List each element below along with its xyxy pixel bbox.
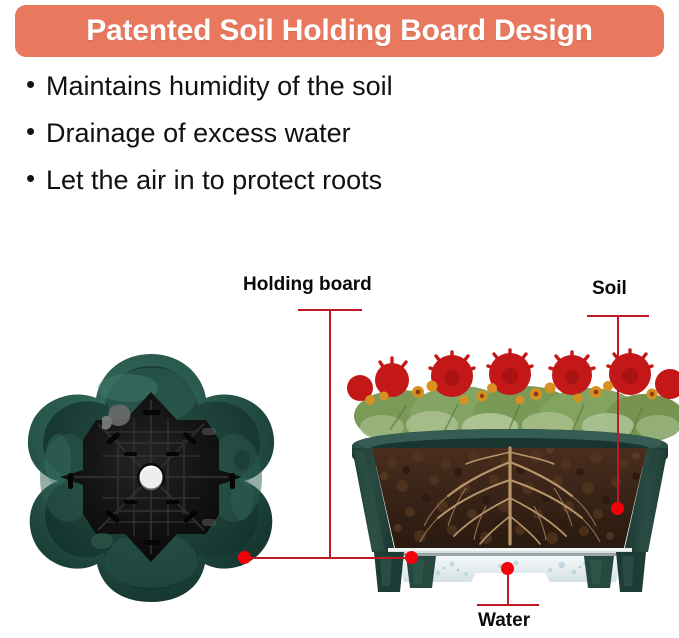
feature-text: Maintains humidity of the soil [46,72,393,100]
holding-board-leader-vertical [329,309,331,558]
holding-board-leader-horizontal [245,557,415,559]
bullet-icon: • [26,71,46,97]
callout-label-water: Water [478,610,530,632]
callout-label-soil: Soil [592,278,627,300]
holding-board-plate [388,548,632,556]
feature-text: Drainage of excess water [46,119,351,147]
list-item: • Drainage of excess water [26,119,626,161]
feature-text: Let the air in to protect roots [46,166,382,194]
red-chrysanthemum-flowers [347,350,679,401]
bullet-icon: • [26,118,46,144]
planter-topdown-image [6,348,296,606]
holding-board-marker-right [405,551,418,564]
bullet-icon: • [26,165,46,191]
list-item: • Maintains humidity of the soil [26,72,626,114]
product-infographic: Patented Soil Holding Board Design • Mai… [0,0,679,638]
soil-marker [611,502,624,515]
feature-list: • Maintains humidity of the soil • Drain… [26,72,626,213]
holding-board-marker-left [238,551,251,564]
water-marker [501,562,514,575]
header-banner: Patented Soil Holding Board Design [15,5,664,57]
callout-label-holding-board: Holding board [243,274,372,296]
soil-leader-vertical [617,315,619,511]
list-item: • Let the air in to protect roots [26,166,626,208]
page-title: Patented Soil Holding Board Design [86,16,593,46]
soil-cross-section [372,446,647,548]
